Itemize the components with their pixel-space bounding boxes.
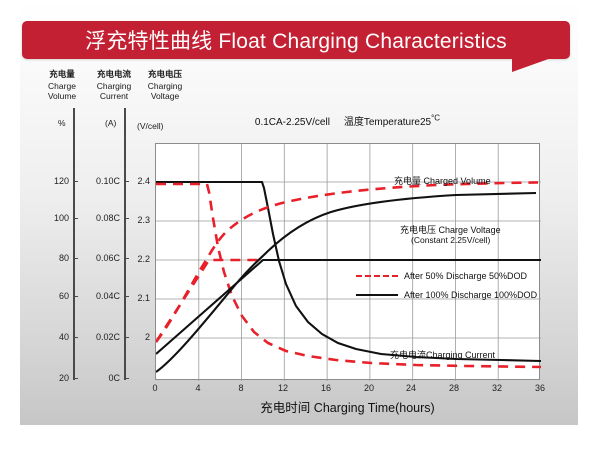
tick-volume-40 <box>73 337 78 338</box>
axis-header-charging-current-line2: Current <box>88 91 140 102</box>
tick-volume-60 <box>73 296 78 297</box>
x-tick-label-0: 0 <box>145 383 165 393</box>
temperature-unit: °C <box>431 114 440 123</box>
tick-label-current-004c: 0.04C <box>85 291 120 301</box>
axis-header-charging-current-cn: 充电电流 <box>88 70 140 81</box>
tick-label-current-008c: 0.08C <box>85 213 120 223</box>
chart-page: 浮充特性曲线 Float Charging Characteristics 充电… <box>0 0 600 451</box>
tick-label-volume-20: 20 <box>44 373 69 383</box>
annotation-charge-voltage-sub: (Constant 2.25V/cell) <box>411 235 490 245</box>
tick-label-volume-100: 100 <box>44 213 69 223</box>
axis-header-charging-voltage: 充电电压 Charging Voltage <box>139 70 191 102</box>
tick-current-006c <box>124 258 129 259</box>
legend-item-50dod: After 50% Discharge 50%DOD <box>356 271 527 281</box>
temperature-label-cn: 温度 <box>344 117 364 128</box>
tick-volume-120 <box>73 181 78 182</box>
tick-current-004c <box>124 296 129 297</box>
tick-current-008c <box>124 218 129 219</box>
banner-title: 浮充特性曲线 Float Charging Characteristics <box>22 25 570 55</box>
tick-label-voltage-21: 2.1 <box>130 293 150 303</box>
chart-condition-note: 0.1CA-2.25V/cell 温度Temperature25°C <box>155 113 540 128</box>
x-tick-label-32: 32 <box>487 383 507 393</box>
x-tick-label-24: 24 <box>401 383 421 393</box>
tick-label-current-0c: 0C <box>85 373 120 383</box>
x-axis-title: 充电时间 Charging Time(hours) <box>155 397 540 416</box>
legend-swatch-solid-icon <box>356 294 398 296</box>
x-tick-label-4: 4 <box>188 383 208 393</box>
tick-volume-80 <box>73 258 78 259</box>
plot-area: 充电量 Charged Volume 充电电压 Charge Voltage (… <box>155 143 540 380</box>
tick-label-current-002c: 0.02C <box>85 332 120 342</box>
tick-volume-20 <box>73 378 78 379</box>
tick-volume-100 <box>73 218 78 219</box>
axis-header-charging-voltage-cn: 充电电压 <box>139 70 191 81</box>
tick-current-002c <box>124 337 129 338</box>
tick-current-010c <box>124 181 129 182</box>
tick-label-volume-60: 60 <box>44 291 69 301</box>
tick-current-0c <box>124 378 129 379</box>
axis-header-charge-volume-line1: Charge <box>38 81 86 92</box>
x-tick-label-28: 28 <box>444 383 464 393</box>
banner-tail-icon <box>512 57 554 72</box>
axis-header-charge-volume: 充电量 Charge Volume <box>38 70 86 102</box>
banner-title-en: Float Charging Characteristics <box>218 30 506 53</box>
x-tick-label-8: 8 <box>231 383 251 393</box>
tick-label-voltage-20: 2 <box>130 332 150 342</box>
curve-charged-volume-50dod <box>156 182 538 342</box>
axis-header-charging-voltage-line1: Charging <box>139 81 191 92</box>
annotation-charging-current: 充电电流Charging Current <box>390 348 495 361</box>
tick-label-voltage-22: 2.2 <box>130 254 150 264</box>
title-banner: 浮充特性曲线 Float Charging Characteristics <box>22 21 570 59</box>
legend-label-100dod: After 100% Discharge 100%DOD <box>404 290 537 300</box>
x-tick-label-16: 16 <box>316 383 336 393</box>
axis-header-charging-voltage-line2: Voltage <box>139 91 191 102</box>
tick-label-volume-80: 80 <box>44 253 69 263</box>
axis-header-charging-current-line1: Charging <box>88 81 140 92</box>
condition-text: 0.1CA-2.25V/cell <box>255 117 330 128</box>
annotation-charged-volume-en: Charged Volume <box>424 176 491 186</box>
temperature-label-en: Temperature25 <box>364 117 431 128</box>
axis-unit-percent: % <box>58 118 66 128</box>
legend-label-50dod: After 50% Discharge 50%DOD <box>404 271 527 281</box>
tick-label-volume-120: 120 <box>44 176 69 186</box>
tick-label-voltage-23: 2.3 <box>130 215 150 225</box>
x-tick-label-12: 12 <box>273 383 293 393</box>
tick-label-current-010c: 0.10C <box>85 176 120 186</box>
banner-title-cn: 浮充特性曲线 <box>85 29 212 53</box>
legend-swatch-dashed-icon <box>356 275 398 277</box>
axis-spine-charge-volume <box>73 108 75 380</box>
x-axis-title-cn: 充电时间 <box>260 400 310 415</box>
annotation-charging-current-en: Charging Current <box>426 350 495 360</box>
x-axis-title-en: Charging Time(hours) <box>314 401 435 415</box>
annotation-charge-voltage-en: Charge Voltage <box>439 225 501 235</box>
annotation-charging-current-cn: 充电电流 <box>390 351 426 361</box>
axis-unit-amps: (A) <box>105 118 116 128</box>
axis-header-charge-volume-cn: 充电量 <box>38 70 86 81</box>
axis-spine-charging-current <box>124 108 126 380</box>
axis-header-charging-current: 充电电流 Charging Current <box>88 70 140 102</box>
x-tick-label-20: 20 <box>359 383 379 393</box>
legend-item-100dod: After 100% Discharge 100%DOD <box>356 290 537 300</box>
tick-label-volume-40: 40 <box>44 332 69 342</box>
tick-label-current-006c: 0.06C <box>85 253 120 263</box>
axis-header-charge-volume-line2: Volume <box>38 91 86 102</box>
tick-label-voltage-24: 2.4 <box>130 176 150 186</box>
annotation-charged-volume: 充电量 Charged Volume <box>394 174 491 187</box>
x-tick-label-36: 36 <box>530 383 550 393</box>
annotation-charged-volume-cn: 充电量 <box>394 177 421 187</box>
